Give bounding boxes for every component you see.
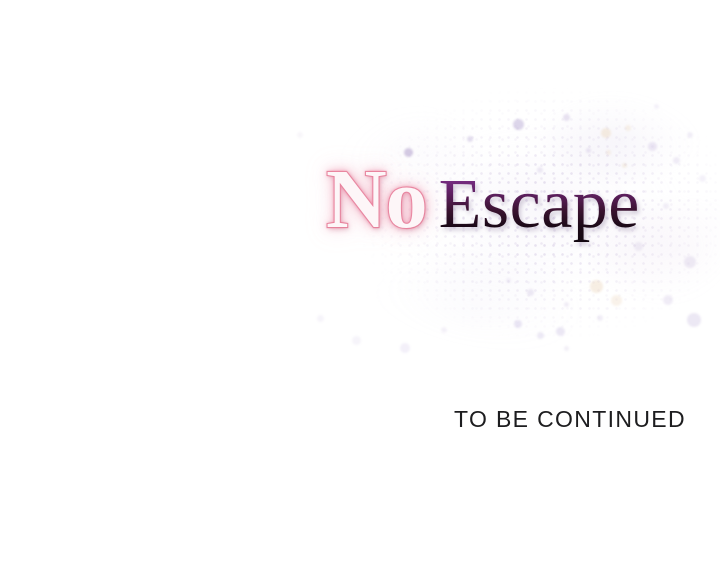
background-texture (0, 0, 720, 582)
bokeh-circle (654, 104, 659, 109)
bokeh-circle (537, 332, 544, 339)
bokeh-circle (606, 150, 611, 155)
bokeh-circle (625, 125, 631, 131)
title-word-escape: Escape (439, 166, 640, 243)
bokeh-circle (506, 278, 511, 283)
bokeh-circle (601, 128, 611, 138)
bokeh-circle (590, 280, 603, 293)
bokeh-circle (687, 132, 693, 138)
bokeh-circle (564, 302, 569, 307)
bokeh-circle (564, 346, 569, 351)
bokeh-circle (441, 327, 447, 333)
bokeh-circle (400, 343, 410, 353)
to-be-continued-label: TO BE CONTINUED (454, 406, 686, 433)
title-word-no: No (326, 153, 427, 246)
title-block: NoEscape (0, 158, 720, 258)
series-title: NoEscape (326, 158, 640, 242)
bokeh-circle (527, 289, 534, 296)
bokeh-circle (663, 295, 673, 305)
end-card-page: NoEscape TO BE CONTINUED (0, 0, 720, 582)
bokeh-circle (611, 295, 622, 306)
bokeh-circle (317, 315, 324, 322)
bokeh-circle (687, 313, 701, 327)
bokeh-circle (513, 119, 524, 130)
bokeh-circle (563, 114, 570, 121)
bokeh-circle (467, 136, 473, 142)
bokeh-circle (556, 327, 565, 336)
bokeh-circle (597, 315, 603, 321)
bokeh-circle (352, 336, 361, 345)
bokeh-circle (297, 132, 303, 138)
bokeh-circle (648, 142, 657, 151)
bokeh-circle (586, 148, 591, 153)
bokeh-circle (514, 320, 522, 328)
